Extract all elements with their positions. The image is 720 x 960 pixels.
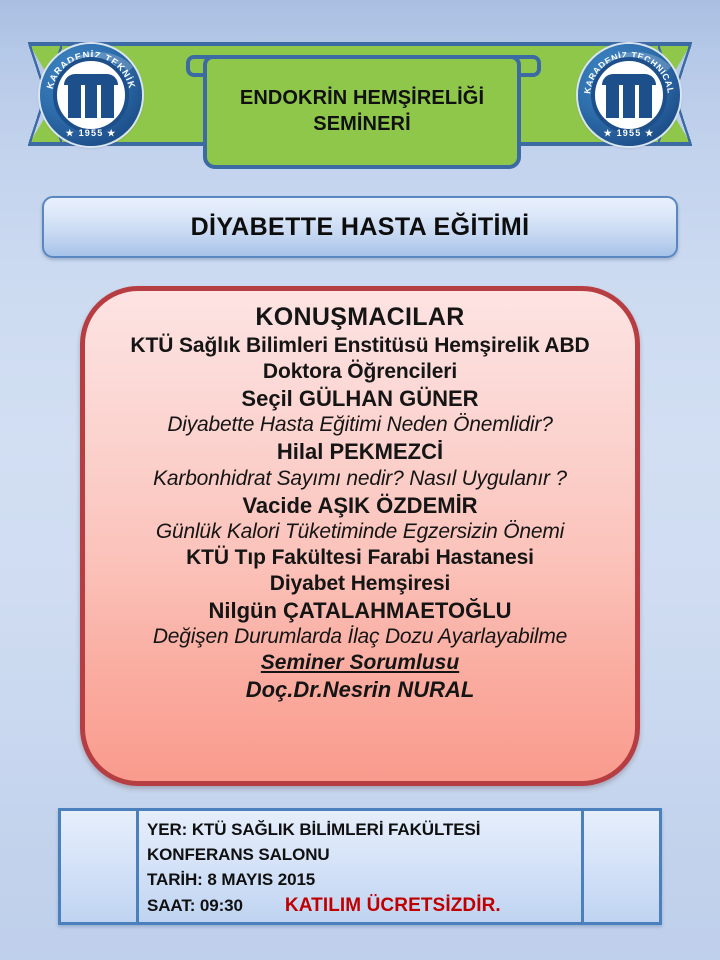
speaker-line-topic: Karbonhidrat Sayımı nedir? Nasıl Uygulan… — [101, 466, 619, 492]
info-venue-line-2: KONFERANS SALONU — [147, 843, 581, 868]
speaker-line-resp: Seminer Sorumlusu — [101, 650, 619, 676]
subtitle-text: DİYABETTE HASTA EĞİTİMİ — [191, 213, 530, 242]
university-logo-right: KARADENİZ TECHNICAL ★ 1955 ★ — [578, 44, 680, 146]
speaker-line-org: KTÜ Tıp Fakültesi Farabi Hastanesi — [101, 545, 619, 571]
info-cell-left-spacer — [61, 811, 139, 922]
speakers-line-list: KTÜ Sağlık Bilimleri Enstitüsü Hemşireli… — [101, 333, 619, 704]
speaker-line-name: Vacide AŞIK ÖZDEMİR — [101, 492, 619, 519]
seal-inner-disc — [591, 57, 667, 133]
free-admission-note: KATILIM ÜCRETSİZDİR. — [285, 892, 501, 920]
seminar-title-banner: ENDOKRİN HEMŞİRELİĞİ SEMİNERİ — [203, 55, 521, 169]
seminar-title-line-1: ENDOKRİN HEMŞİRELİĞİ — [232, 86, 492, 112]
seminar-title-line-2: SEMİNERİ — [305, 112, 418, 138]
info-cell-details: YER: KTÜ SAĞLIK BİLİMLERİ FAKÜLTESİ KONF… — [139, 811, 581, 922]
seal-inner-disc — [53, 57, 129, 133]
speakers-panel: KONUŞMACILAR KTÜ Sağlık Bilimleri Enstit… — [80, 286, 640, 786]
speaker-line-name: Seçil GÜLHAN GÜNER — [101, 385, 619, 412]
seal-right-year: ★ 1955 ★ — [578, 128, 680, 139]
speaker-line-topic: Değişen Durumlarda İlaç Dozu Ayarlayabil… — [101, 624, 619, 650]
info-cell-right-spacer — [581, 811, 659, 922]
subtitle-banner: DİYABETTE HASTA EĞİTİMİ — [42, 196, 678, 258]
ktu-monogram-icon — [64, 74, 118, 118]
info-venue-line-1: YER: KTÜ SAĞLIK BİLİMLERİ FAKÜLTESİ — [147, 818, 581, 843]
seal-left-year: ★ 1955 ★ — [40, 128, 142, 139]
speaker-line-topic: Diyabette Hasta Eğitimi Neden Önemlidir? — [101, 412, 619, 438]
poster-root: ENDOKRİN HEMŞİRELİĞİ SEMİNERİ KARADENİZ … — [0, 0, 720, 960]
speaker-line-org: Diyabet Hemşiresi — [101, 571, 619, 597]
speaker-line-name: Nilgün ÇATALAHMAETOĞLU — [101, 597, 619, 624]
speaker-line-name: Hilal PEKMEZCİ — [101, 438, 619, 465]
speaker-line-topic: Günlük Kalori Tüketiminde Egzersizin Öne… — [101, 519, 619, 545]
speaker-line-org: Doktora Öğrencileri — [101, 359, 619, 385]
speaker-line-org: KTÜ Sağlık Bilimleri Enstitüsü Hemşireli… — [101, 333, 619, 359]
info-date: TARİH: 8 MAYIS 2015 — [147, 868, 581, 893]
speaker-line-respname: Doç.Dr.Nesrin NURAL — [101, 676, 619, 703]
speakers-heading: KONUŞMACILAR — [101, 302, 619, 333]
info-time: SAAT: 09:30 — [147, 894, 243, 919]
university-logo-left: KARADENİZ TEKNİK ★ 1955 ★ — [40, 44, 142, 146]
info-time-row: SAAT: 09:30 KATILIM ÜCRETSİZDİR. — [147, 892, 581, 920]
poster-header: ENDOKRİN HEMŞİRELİĞİ SEMİNERİ KARADENİZ … — [0, 0, 720, 180]
event-info-table: YER: KTÜ SAĞLIK BİLİMLERİ FAKÜLTESİ KONF… — [58, 808, 662, 925]
ktu-monogram-icon — [602, 74, 656, 118]
